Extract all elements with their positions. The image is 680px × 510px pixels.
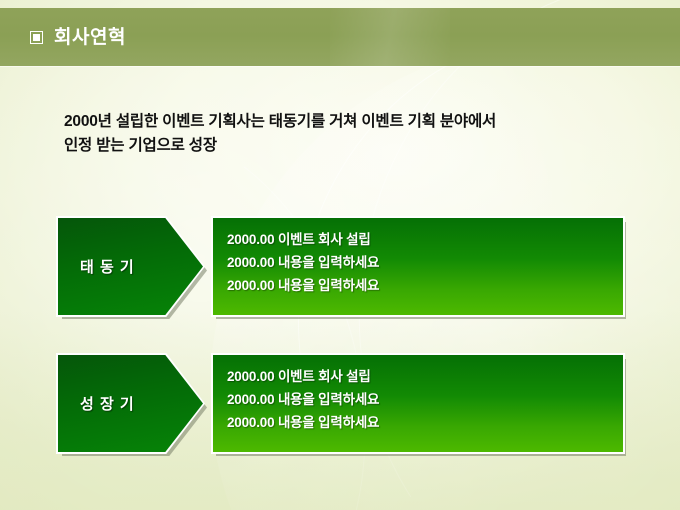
slide-subtitle: 2000년 설립한 이벤트 기획사는 태동기를 거쳐 이벤트 기획 분야에서 인… (64, 110, 624, 157)
content-line: 2000.00 내용을 입력하세요 (227, 388, 623, 411)
content-panel-taedonggi[interactable]: 2000.00 이벤트 회사 설립 2000.00 내용을 입력하세요 2000… (213, 218, 623, 315)
square-bullet-icon (30, 31, 43, 44)
content-line: 2000.00 내용을 입력하세요 (227, 411, 623, 434)
content-line: 2000.00 이벤트 회사 설립 (227, 228, 623, 251)
slide-header-content: 회사연혁 (30, 8, 126, 66)
content-panel-seongjanggi[interactable]: 2000.00 이벤트 회사 설립 2000.00 내용을 입력하세요 2000… (213, 355, 623, 452)
content-line: 2000.00 이벤트 회사 설립 (227, 365, 623, 388)
stage-label: 태 동 기 (80, 256, 135, 277)
stage-label: 성 장 기 (80, 393, 135, 414)
page-title: 회사연혁 (54, 28, 126, 47)
slide-canvas: 회사연혁 2000년 설립한 이벤트 기획사는 태동기를 거쳐 이벤트 기획 분… (0, 0, 680, 510)
slide-header-band: 회사연혁 (0, 8, 680, 66)
content-line: 2000.00 내용을 입력하세요 (227, 274, 623, 297)
content-line: 2000.00 내용을 입력하세요 (227, 251, 623, 274)
